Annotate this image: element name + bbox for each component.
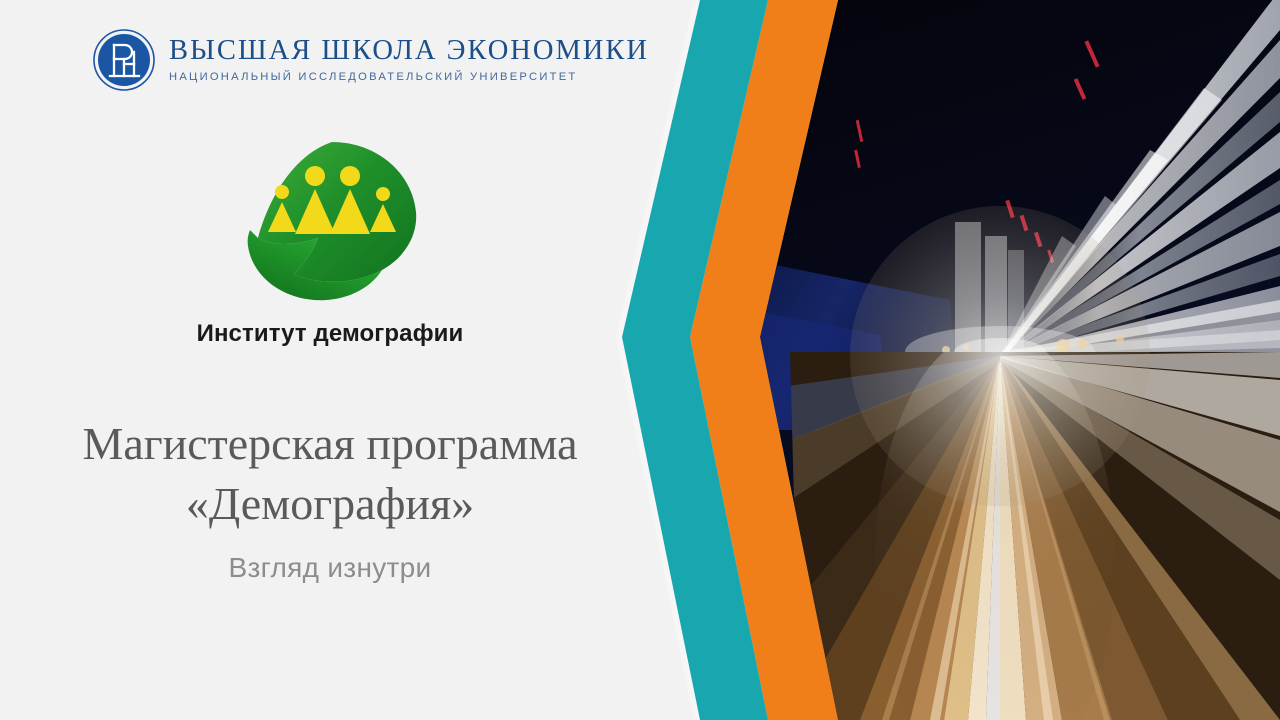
rail-motion-streaks (700, 330, 1280, 720)
page-subtitle: Взгляд изнутри (0, 552, 660, 584)
hse-name-primary: ВЫСШАЯ ШКОЛА ЭКОНОМИКИ (169, 37, 649, 66)
institute-logo (236, 134, 424, 306)
hse-wordmark: ВЫСШАЯ ШКОЛА ЭКОНОМИКИ НАЦИОНАЛЬНЫЙ ИССЛ… (169, 37, 649, 84)
slide-left-content: ВЫСШАЯ ШКОЛА ЭКОНОМИКИ НАЦИОНАЛЬНЫЙ ИССЛ… (0, 0, 660, 720)
page-title: Магистерская программа «Демография» (0, 414, 660, 534)
hse-emblem-icon (92, 28, 156, 92)
light-streaks-upper (1000, 0, 1280, 362)
hse-logo: ВЫСШАЯ ШКОЛА ЭКОНОМИКИ НАЦИОНАЛЬНЫЙ ИССЛ… (92, 28, 649, 92)
orange-chevron (690, 0, 838, 720)
leaf-family-icon (236, 134, 424, 306)
night-city-motion-blur-photo (700, 0, 1280, 720)
distant-street-lights (942, 336, 1124, 354)
institute-caption: Институт демографии (0, 320, 660, 348)
presentation-slide: ВЫСШАЯ ШКОЛА ЭКОНОМИКИ НАЦИОНАЛЬНЫЙ ИССЛ… (0, 0, 1280, 720)
red-tower-lights (854, 40, 1099, 263)
hse-name-secondary: НАЦИОНАЛЬНЫЙ ИССЛЕДОВАТЕЛЬСКИЙ УНИВЕРСИТ… (169, 72, 649, 83)
